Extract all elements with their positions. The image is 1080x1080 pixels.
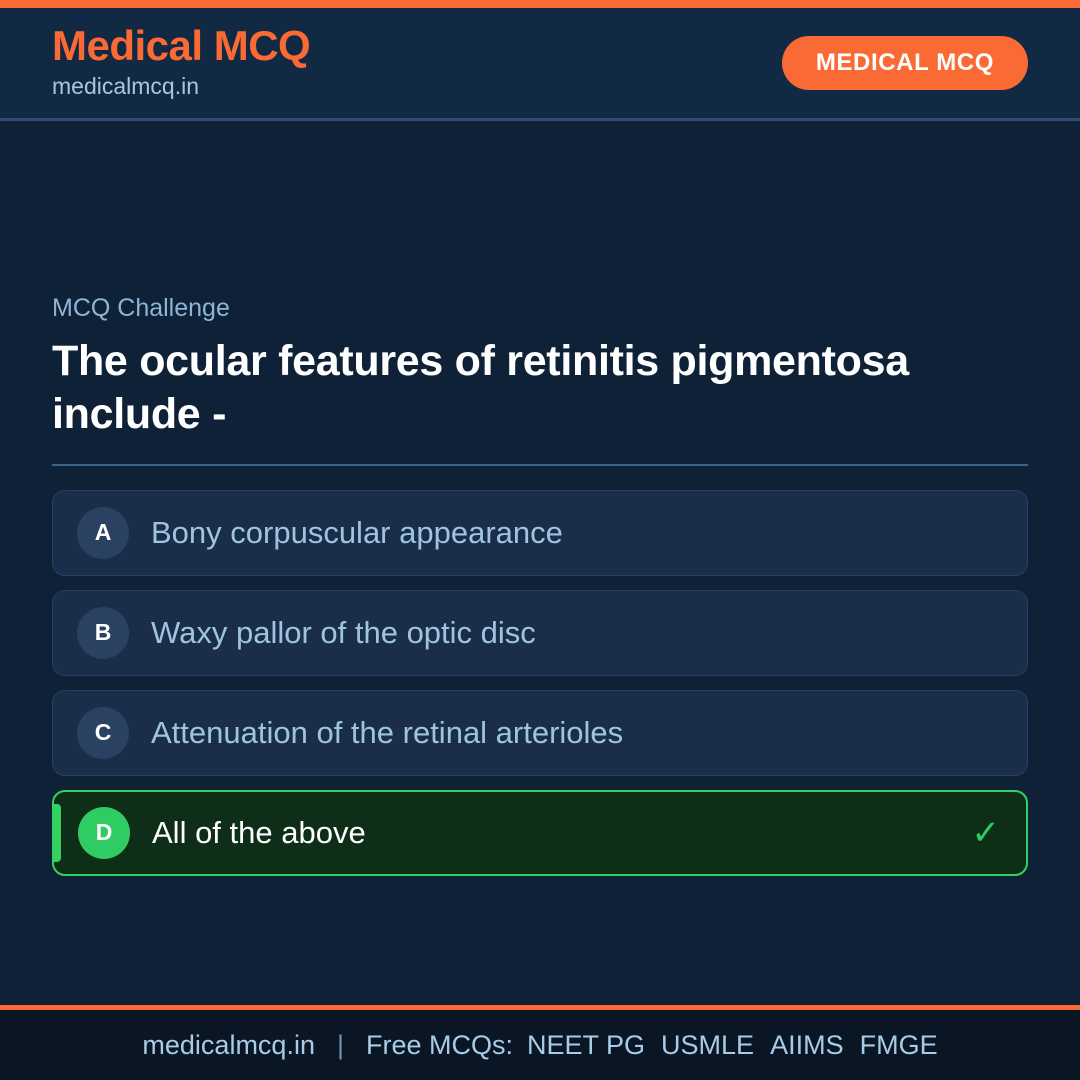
option-label: Bony corpuscular appearance (151, 514, 959, 551)
header-badge: MEDICAL MCQ (782, 36, 1028, 90)
check-icon: ✓ (972, 816, 1001, 850)
footer-site: medicalmcq.in (142, 1030, 315, 1061)
footer-tag-fmge: FMGE (860, 1030, 938, 1061)
header: Medical MCQ medicalmcq.in MEDICAL MCQ (0, 8, 1080, 121)
option-letter-badge: C (77, 707, 129, 759)
option-c[interactable]: C Attenuation of the retinal arterioles … (52, 690, 1028, 776)
option-letter-badge: A (77, 507, 129, 559)
mcq-card: Medical MCQ medicalmcq.in MEDICAL MCQ MC… (0, 0, 1080, 1080)
option-label: All of the above (152, 814, 958, 851)
question-kicker: MCQ Challenge (52, 293, 1028, 323)
option-letter-badge: B (77, 607, 129, 659)
brand-url: medicalmcq.in (52, 71, 310, 102)
option-d[interactable]: D All of the above ✓ (52, 790, 1028, 876)
option-label: Waxy pallor of the optic disc (151, 614, 959, 651)
footer-separator: | (329, 1030, 352, 1061)
footer: medicalmcq.in | Free MCQs: NEET PG USMLE… (0, 1005, 1080, 1080)
top-accent-bar (0, 0, 1080, 8)
footer-tag-neetpg: NEET PG (527, 1030, 645, 1061)
footer-tags: NEET PG USMLE AIIMS FMGE (527, 1030, 938, 1061)
correct-accent-bar (54, 804, 61, 862)
option-b[interactable]: B Waxy pallor of the optic disc ✓ (52, 590, 1028, 676)
question-divider (52, 464, 1028, 466)
footer-label: Free MCQs: (366, 1030, 513, 1061)
footer-inner: medicalmcq.in | Free MCQs: NEET PG USMLE… (142, 1030, 937, 1061)
options-list: A Bony corpuscular appearance ✓ B Waxy p… (52, 490, 1028, 876)
option-letter-badge: D (78, 807, 130, 859)
question-block: MCQ Challenge The ocular features of ret… (52, 293, 1028, 466)
footer-tag-aiims: AIIMS (770, 1030, 844, 1061)
question-text: The ocular features of retinitis pigment… (52, 335, 952, 442)
brand-title: Medical MCQ (52, 24, 310, 68)
brand: Medical MCQ medicalmcq.in (52, 24, 310, 101)
option-a[interactable]: A Bony corpuscular appearance ✓ (52, 490, 1028, 576)
option-label: Attenuation of the retinal arterioles (151, 714, 959, 751)
main-content: MCQ Challenge The ocular features of ret… (0, 121, 1080, 1005)
footer-tag-usmle: USMLE (661, 1030, 754, 1061)
